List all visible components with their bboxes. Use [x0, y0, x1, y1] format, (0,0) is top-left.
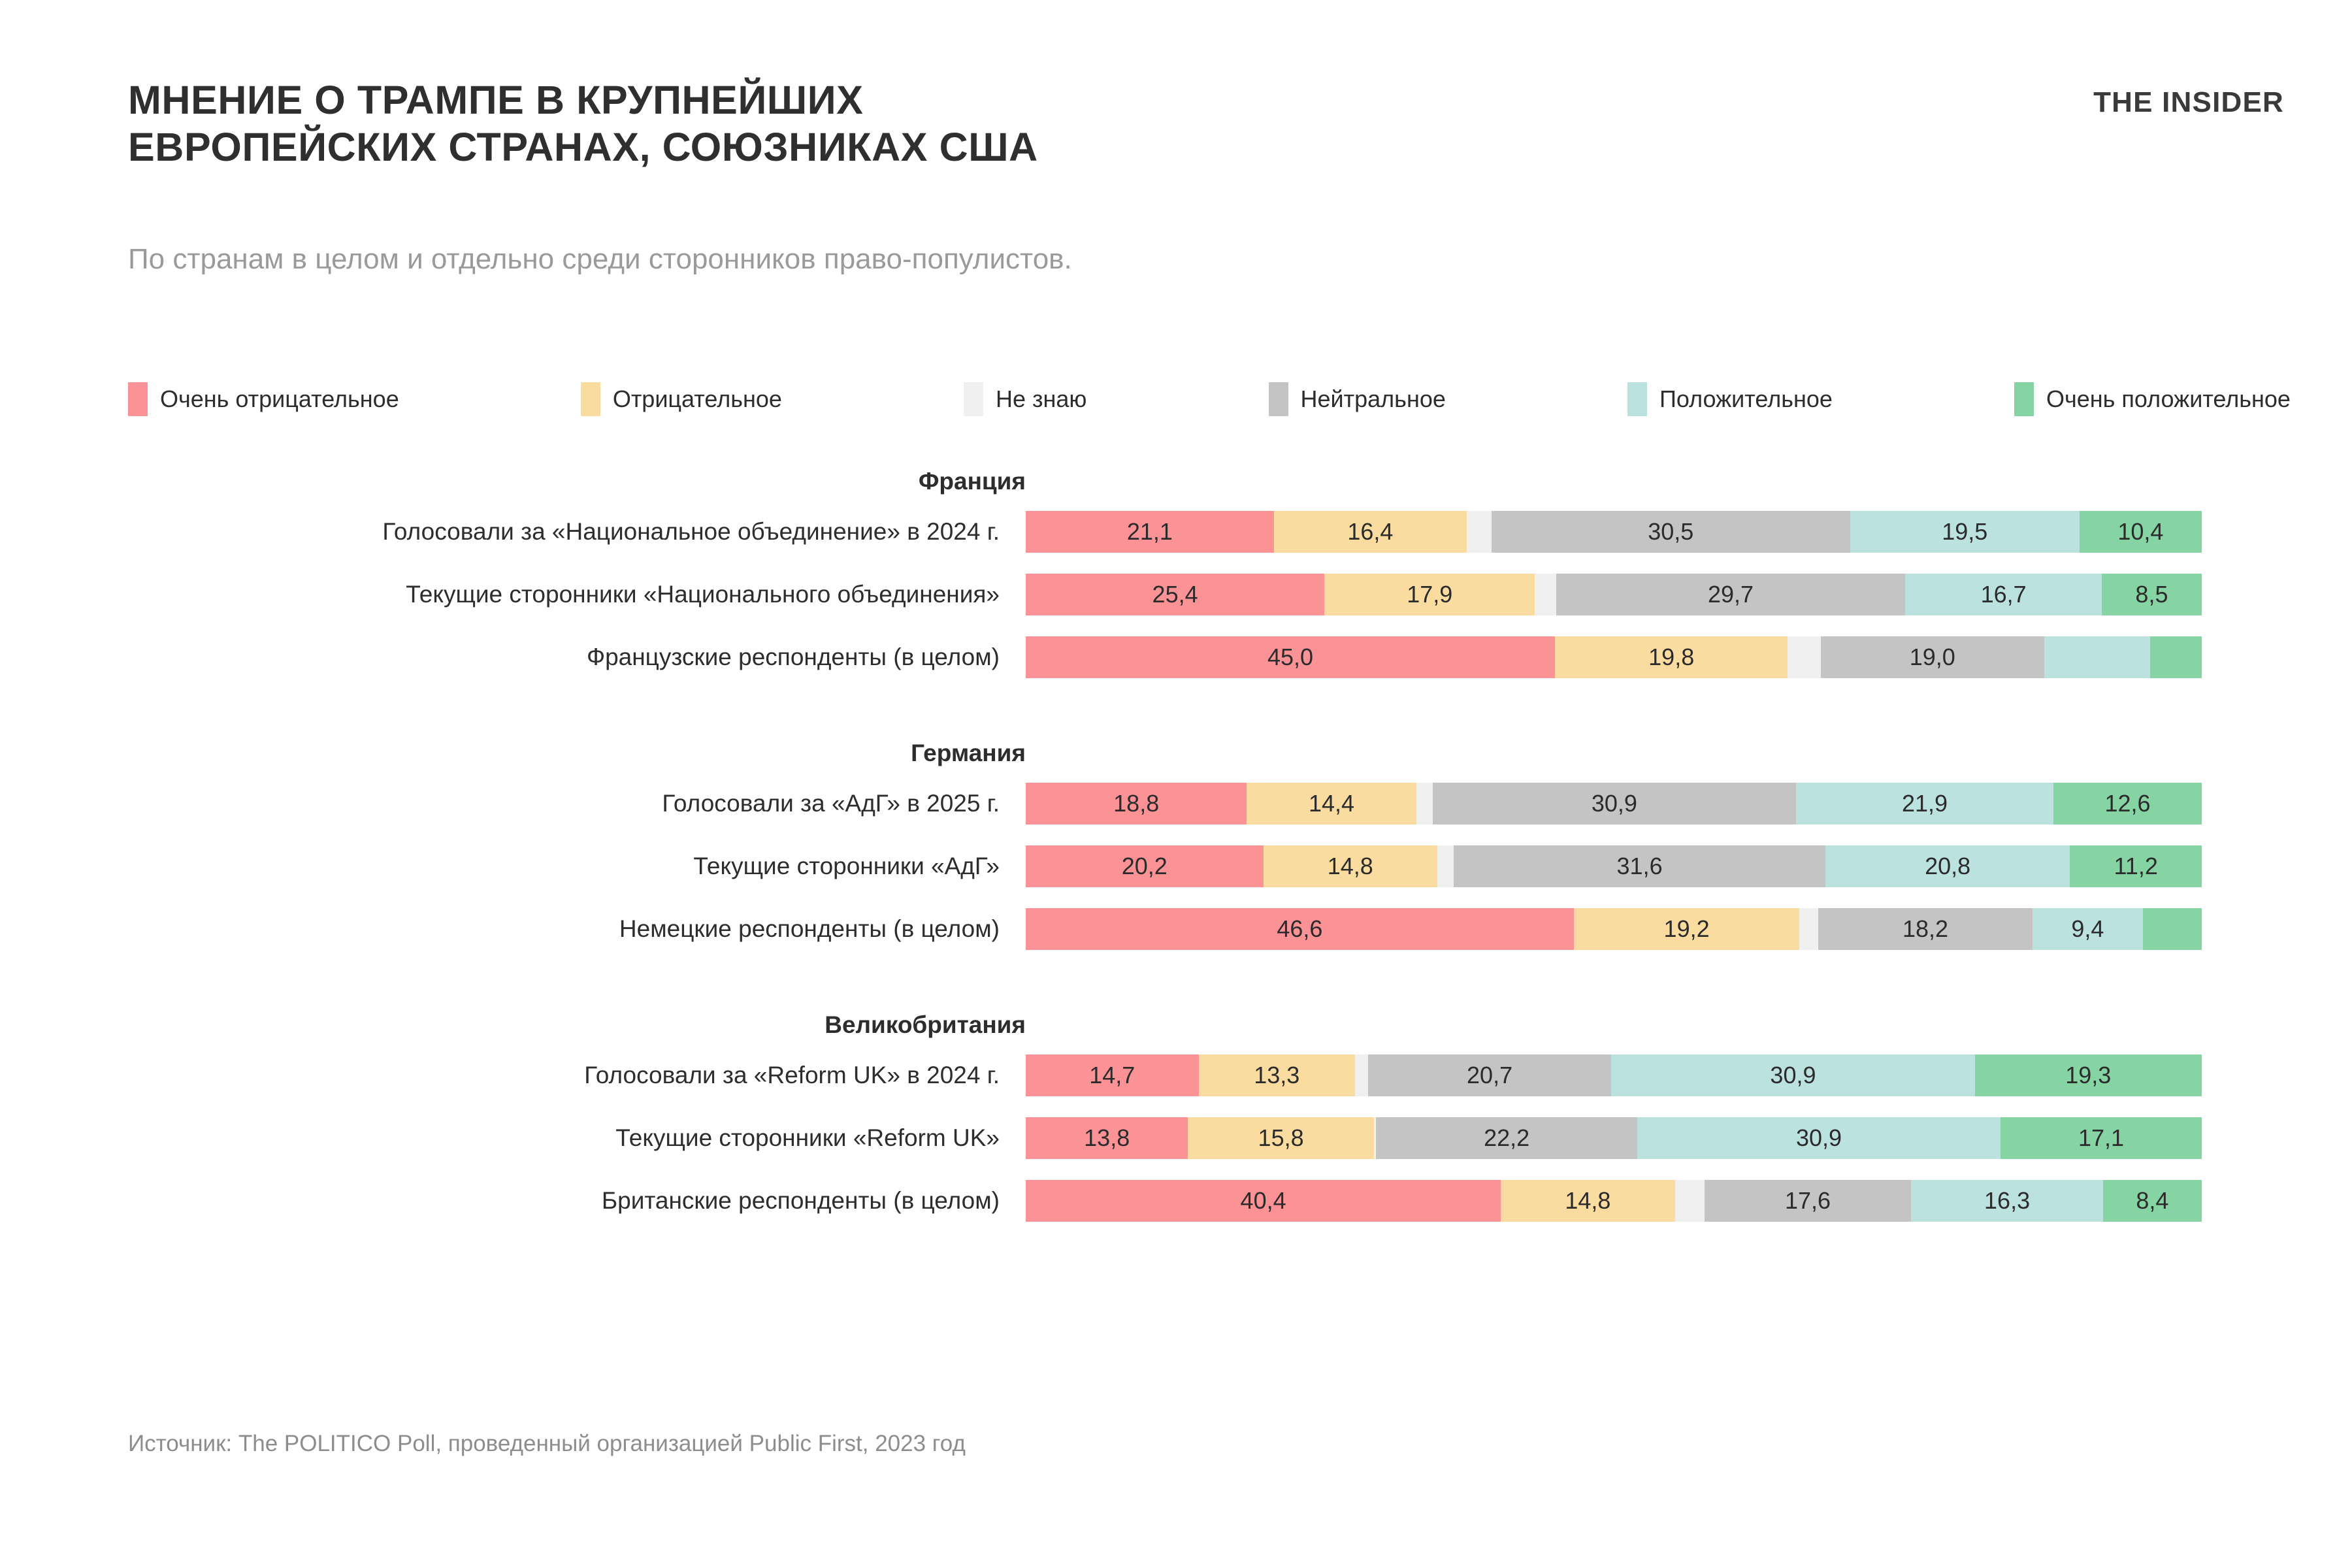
- row-label: Голосовали за «Национальное объединение»…: [0, 519, 1026, 546]
- bar-segment-dont_know[interactable]: [1416, 783, 1433, 825]
- legend-label-negative: Отрицательное: [613, 387, 782, 411]
- legend-swatch-dont_know: [964, 382, 983, 416]
- bar-segment-very_negative[interactable]: 20,2: [1026, 845, 1264, 887]
- bar-segment-negative[interactable]: 15,8: [1188, 1117, 1373, 1159]
- legend-swatch-positive: [1627, 382, 1647, 416]
- legend-swatch-very_negative: [128, 382, 148, 416]
- legend-label-positive: Положительное: [1659, 387, 1833, 411]
- stacked-bar: 46,619,218,29,4: [1026, 908, 2202, 950]
- chart-group-1: ФранцияГолосовали за «Национальное объед…: [0, 457, 2352, 729]
- bar-segment-neutral[interactable]: 17,6: [1705, 1180, 1912, 1222]
- bar-segment-positive[interactable]: 20,8: [1825, 845, 2070, 887]
- infographic-canvas: МНЕНИЕ О ТРАМПЕ В КРУПНЕЙШИХ ЕВРОПЕЙСКИХ…: [0, 0, 2352, 1568]
- bar-segment-negative[interactable]: 17,9: [1324, 574, 1535, 615]
- bar-segment-negative[interactable]: 19,2: [1574, 908, 1800, 950]
- chart-row: Голосовали за «АдГ» в 2025 г.18,814,430,…: [0, 777, 2352, 830]
- bar-segment-neutral[interactable]: 30,5: [1492, 511, 1850, 553]
- bar-segment-very_positive[interactable]: [2143, 908, 2202, 950]
- group-title: Великобритания: [0, 1001, 1026, 1049]
- bar-segment-dont_know[interactable]: [1799, 908, 1818, 950]
- legend-label-dont_know: Не знаю: [996, 387, 1086, 411]
- legend-label-very_negative: Очень отрицательное: [160, 387, 399, 411]
- legend-item-neutral[interactable]: Нейтральное: [1269, 382, 1446, 416]
- row-label: Голосовали за «АдГ» в 2025 г.: [0, 791, 1026, 817]
- legend-item-very_positive[interactable]: Очень положительное: [2014, 382, 2291, 416]
- stacked-bar: 14,713,320,730,919,3: [1026, 1054, 2202, 1096]
- group-spacer: [0, 966, 2352, 1001]
- chart-row: Британские респонденты (в целом)40,414,8…: [0, 1175, 2352, 1227]
- bar-segment-neutral[interactable]: 18,2: [1818, 908, 2033, 950]
- group-spacer: [0, 694, 2352, 729]
- group-title: Германия: [0, 729, 1026, 777]
- bar-segment-positive[interactable]: 9,4: [2033, 908, 2143, 950]
- bar-segment-very_positive[interactable]: 8,5: [2102, 574, 2202, 615]
- bar-segment-very_positive[interactable]: 8,4: [2103, 1180, 2202, 1222]
- bar-segment-very_positive[interactable]: [2150, 636, 2202, 678]
- the-insider-logo: THE INSIDER: [2093, 86, 2284, 119]
- chart-row: Немецкие респонденты (в целом)46,619,218…: [0, 903, 2352, 955]
- bar-segment-negative[interactable]: 14,8: [1264, 845, 1437, 887]
- legend-swatch-negative: [581, 382, 600, 416]
- bar-segment-dont_know[interactable]: [1467, 511, 1492, 553]
- stacked-bar: 25,417,929,716,78,5: [1026, 574, 2202, 615]
- stacked-bar: 45,019,819,0: [1026, 636, 2202, 678]
- bar-segment-very_positive[interactable]: 10,4: [2080, 511, 2202, 553]
- bar-segment-very_positive[interactable]: 11,2: [2070, 845, 2202, 887]
- bar-segment-very_negative[interactable]: 18,8: [1026, 783, 1247, 825]
- legend-swatch-very_positive: [2014, 382, 2034, 416]
- chart-row: Голосовали за «Reform UK» в 2024 г.14,71…: [0, 1049, 2352, 1102]
- bar-segment-very_negative[interactable]: 46,6: [1026, 908, 1574, 950]
- stacked-bar: 21,116,430,519,510,4: [1026, 511, 2202, 553]
- bar-segment-very_negative[interactable]: 13,8: [1026, 1117, 1188, 1159]
- group-title: Франция: [0, 457, 1026, 506]
- bar-segment-negative[interactable]: 19,8: [1555, 636, 1788, 678]
- bar-segment-neutral[interactable]: 31,6: [1454, 845, 1825, 887]
- chart-row: Текущие сторонники «АдГ»20,214,831,620,8…: [0, 840, 2352, 892]
- row-label: Текущие сторонники «Национального объеди…: [0, 581, 1026, 608]
- bar-segment-positive[interactable]: 16,7: [1905, 574, 2102, 615]
- chart-row: Текущие сторонники «Национального объеди…: [0, 568, 2352, 621]
- stacked-bar: 40,414,817,616,38,4: [1026, 1180, 2202, 1222]
- header: МНЕНИЕ О ТРАМПЕ В КРУПНЕЙШИХ ЕВРОПЕЙСКИХ…: [128, 77, 2284, 171]
- legend-label-very_positive: Очень положительное: [2046, 387, 2291, 411]
- bar-segment-very_negative[interactable]: 21,1: [1026, 511, 1274, 553]
- bar-segment-very_positive[interactable]: 19,3: [1975, 1054, 2202, 1096]
- bar-segment-positive[interactable]: 30,9: [1611, 1054, 1974, 1096]
- row-label: Французские респонденты (в целом): [0, 644, 1026, 671]
- bar-segment-positive[interactable]: [2044, 636, 2150, 678]
- bar-segment-neutral[interactable]: 22,2: [1376, 1117, 1637, 1159]
- bar-segment-negative[interactable]: 13,3: [1199, 1054, 1355, 1096]
- page-title-line-2: ЕВРОПЕЙСКИХ СТРАНАХ, СОЮЗНИКАХ США: [128, 124, 1206, 171]
- bar-segment-dont_know[interactable]: [1788, 636, 1820, 678]
- source-note: Источник: The POLITICO Poll, проведенный…: [128, 1431, 966, 1457]
- bar-segment-dont_know[interactable]: [1355, 1054, 1368, 1096]
- chart-group-2: ГерманияГолосовали за «АдГ» в 2025 г.18,…: [0, 729, 2352, 1001]
- stacked-bar: 20,214,831,620,811,2: [1026, 845, 2202, 887]
- page-title-line-1: МНЕНИЕ О ТРАМПЕ В КРУПНЕЙШИХ: [128, 77, 1206, 124]
- legend-swatch-neutral: [1269, 382, 1288, 416]
- bar-segment-dont_know[interactable]: [1675, 1180, 1705, 1222]
- stacked-bar: 13,815,822,230,917,1: [1026, 1117, 2202, 1159]
- chart-row: Голосовали за «Национальное объединение»…: [0, 506, 2352, 558]
- bar-segment-neutral[interactable]: 20,7: [1368, 1054, 1612, 1096]
- bar-segment-very_positive[interactable]: 17,1: [2001, 1117, 2202, 1159]
- bar-segment-positive[interactable]: 30,9: [1637, 1117, 2001, 1159]
- bar-segment-neutral[interactable]: 29,7: [1556, 574, 1906, 615]
- bar-segment-dont_know[interactable]: [1535, 574, 1556, 615]
- bar-segment-positive[interactable]: 21,9: [1796, 783, 2053, 825]
- legend-item-positive[interactable]: Положительное: [1627, 382, 1833, 416]
- chart-group-3: ВеликобританияГолосовали за «Reform UK» …: [0, 1001, 2352, 1227]
- bar-segment-positive[interactable]: 16,3: [1911, 1180, 2102, 1222]
- bar-segment-negative[interactable]: 14,4: [1247, 783, 1416, 825]
- stacked-bar: 18,814,430,921,912,6: [1026, 783, 2202, 825]
- row-label: Текущие сторонники «АдГ»: [0, 853, 1026, 880]
- row-label: Голосовали за «Reform UK» в 2024 г.: [0, 1062, 1026, 1089]
- chart-row: Текущие сторонники «Reform UK»13,815,822…: [0, 1112, 2352, 1164]
- bar-segment-very_negative[interactable]: 45,0: [1026, 636, 1555, 678]
- bar-segment-very_positive[interactable]: 12,6: [2053, 783, 2202, 825]
- legend-label-neutral: Нейтральное: [1301, 387, 1446, 411]
- legend-item-very_negative[interactable]: Очень отрицательное: [128, 382, 399, 416]
- row-label: Текущие сторонники «Reform UK»: [0, 1125, 1026, 1152]
- stacked-bar-chart: ФранцияГолосовали за «Национальное объед…: [0, 457, 2352, 1237]
- bar-segment-neutral[interactable]: 19,0: [1821, 636, 2044, 678]
- bar-segment-negative[interactable]: 14,8: [1501, 1180, 1674, 1222]
- row-label: Немецкие респонденты (в целом): [0, 916, 1026, 943]
- chart-legend: Очень отрицательноеОтрицательноеНе знаюН…: [128, 382, 2291, 416]
- legend-item-dont_know[interactable]: Не знаю: [964, 382, 1086, 416]
- bar-segment-positive[interactable]: 19,5: [1850, 511, 2080, 553]
- bar-segment-very_negative[interactable]: 25,4: [1026, 574, 1324, 615]
- chart-row: Французские респонденты (в целом)45,019,…: [0, 631, 2352, 683]
- bar-segment-very_negative[interactable]: 14,7: [1026, 1054, 1199, 1096]
- page-title: МНЕНИЕ О ТРАМПЕ В КРУПНЕЙШИХ ЕВРОПЕЙСКИХ…: [128, 77, 1206, 171]
- page-subtitle: По странам в целом и отдельно среди стор…: [128, 243, 1072, 276]
- bar-segment-negative[interactable]: 16,4: [1274, 511, 1467, 553]
- bar-segment-very_negative[interactable]: 40,4: [1026, 1180, 1501, 1222]
- legend-item-negative[interactable]: Отрицательное: [581, 382, 782, 416]
- row-label: Британские респонденты (в целом): [0, 1188, 1026, 1215]
- bar-segment-dont_know[interactable]: [1437, 845, 1454, 887]
- bar-segment-neutral[interactable]: 30,9: [1433, 783, 1796, 825]
